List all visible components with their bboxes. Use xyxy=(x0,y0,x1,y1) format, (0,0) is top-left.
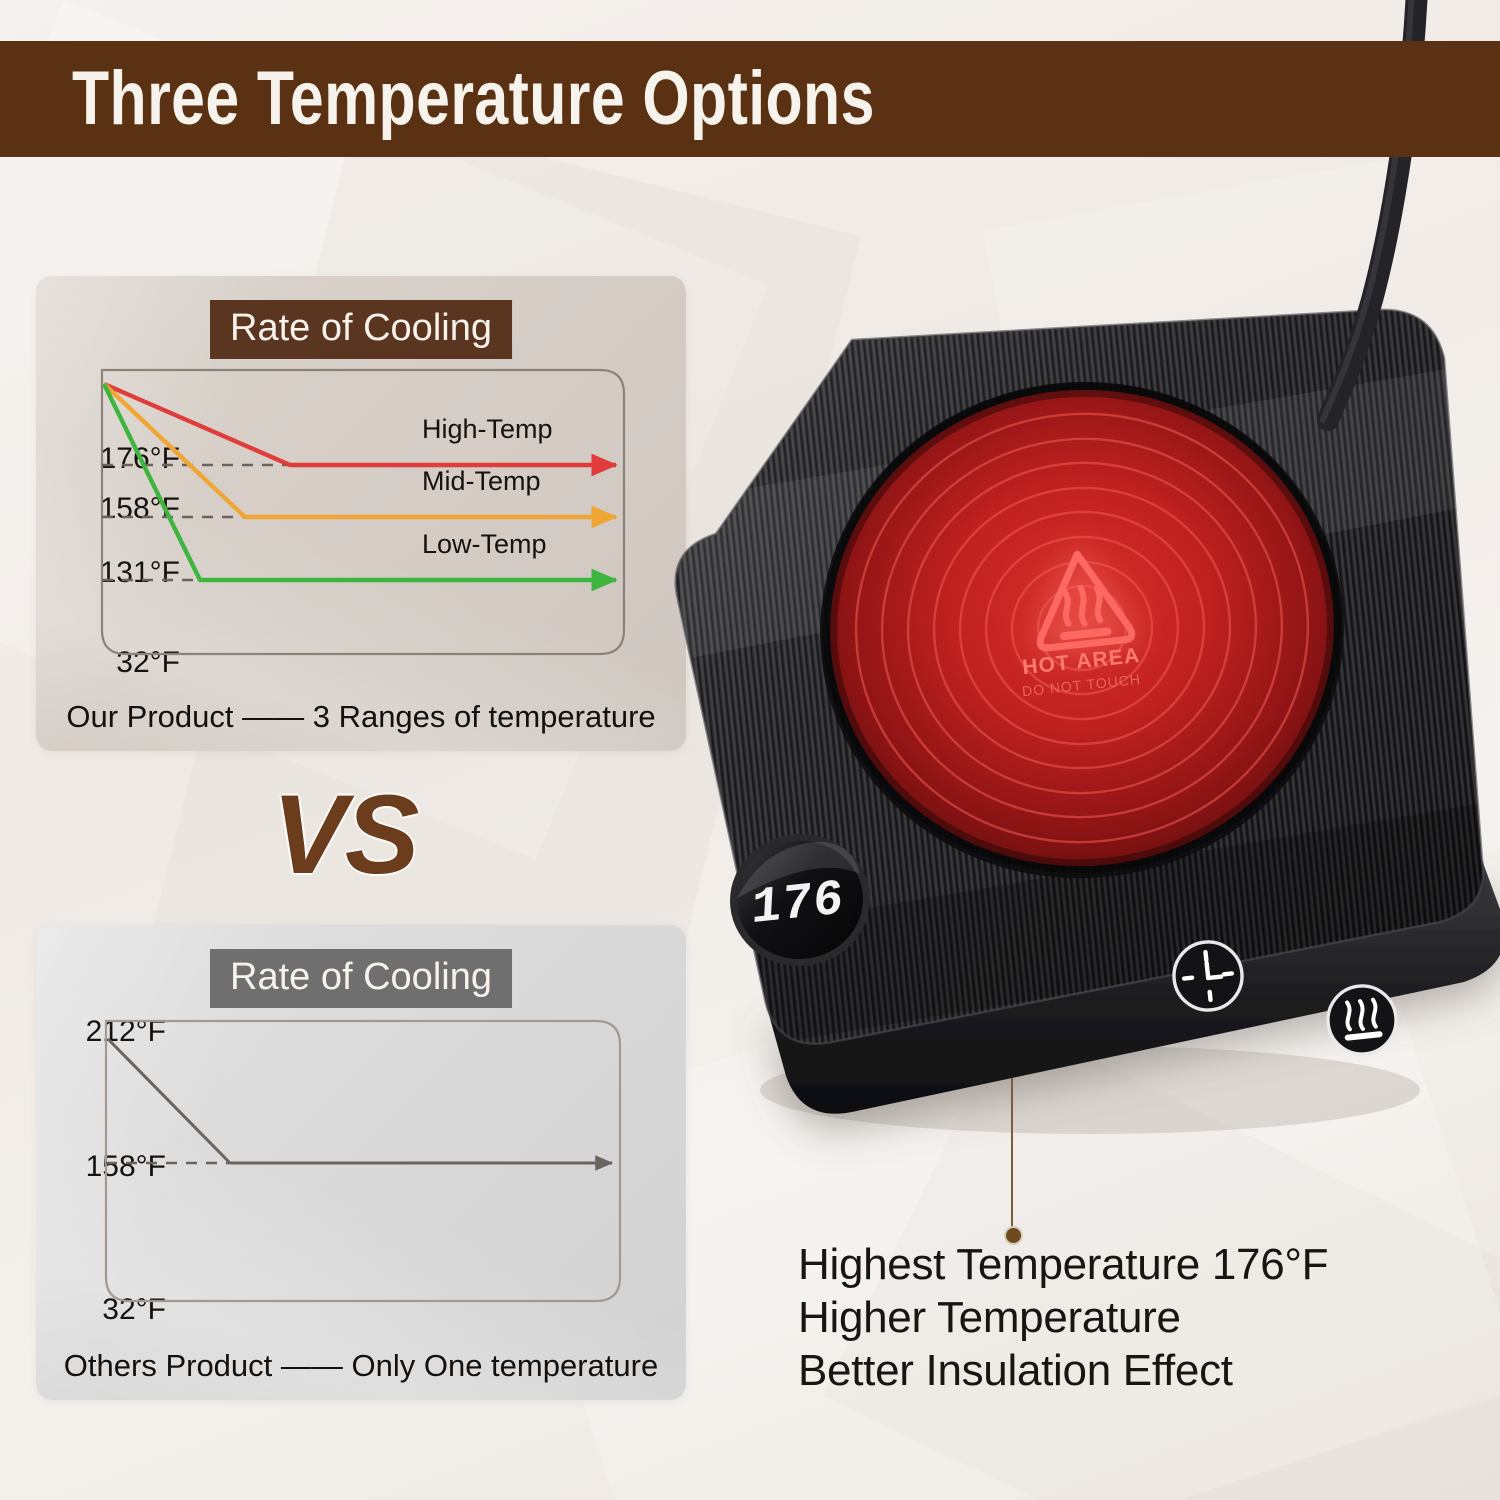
power-cord xyxy=(0,0,1500,1500)
page-title: Three Temperature Options xyxy=(72,47,875,151)
product-marketing-image: Three Temperature Options Rate of Coolin… xyxy=(0,0,1500,1500)
